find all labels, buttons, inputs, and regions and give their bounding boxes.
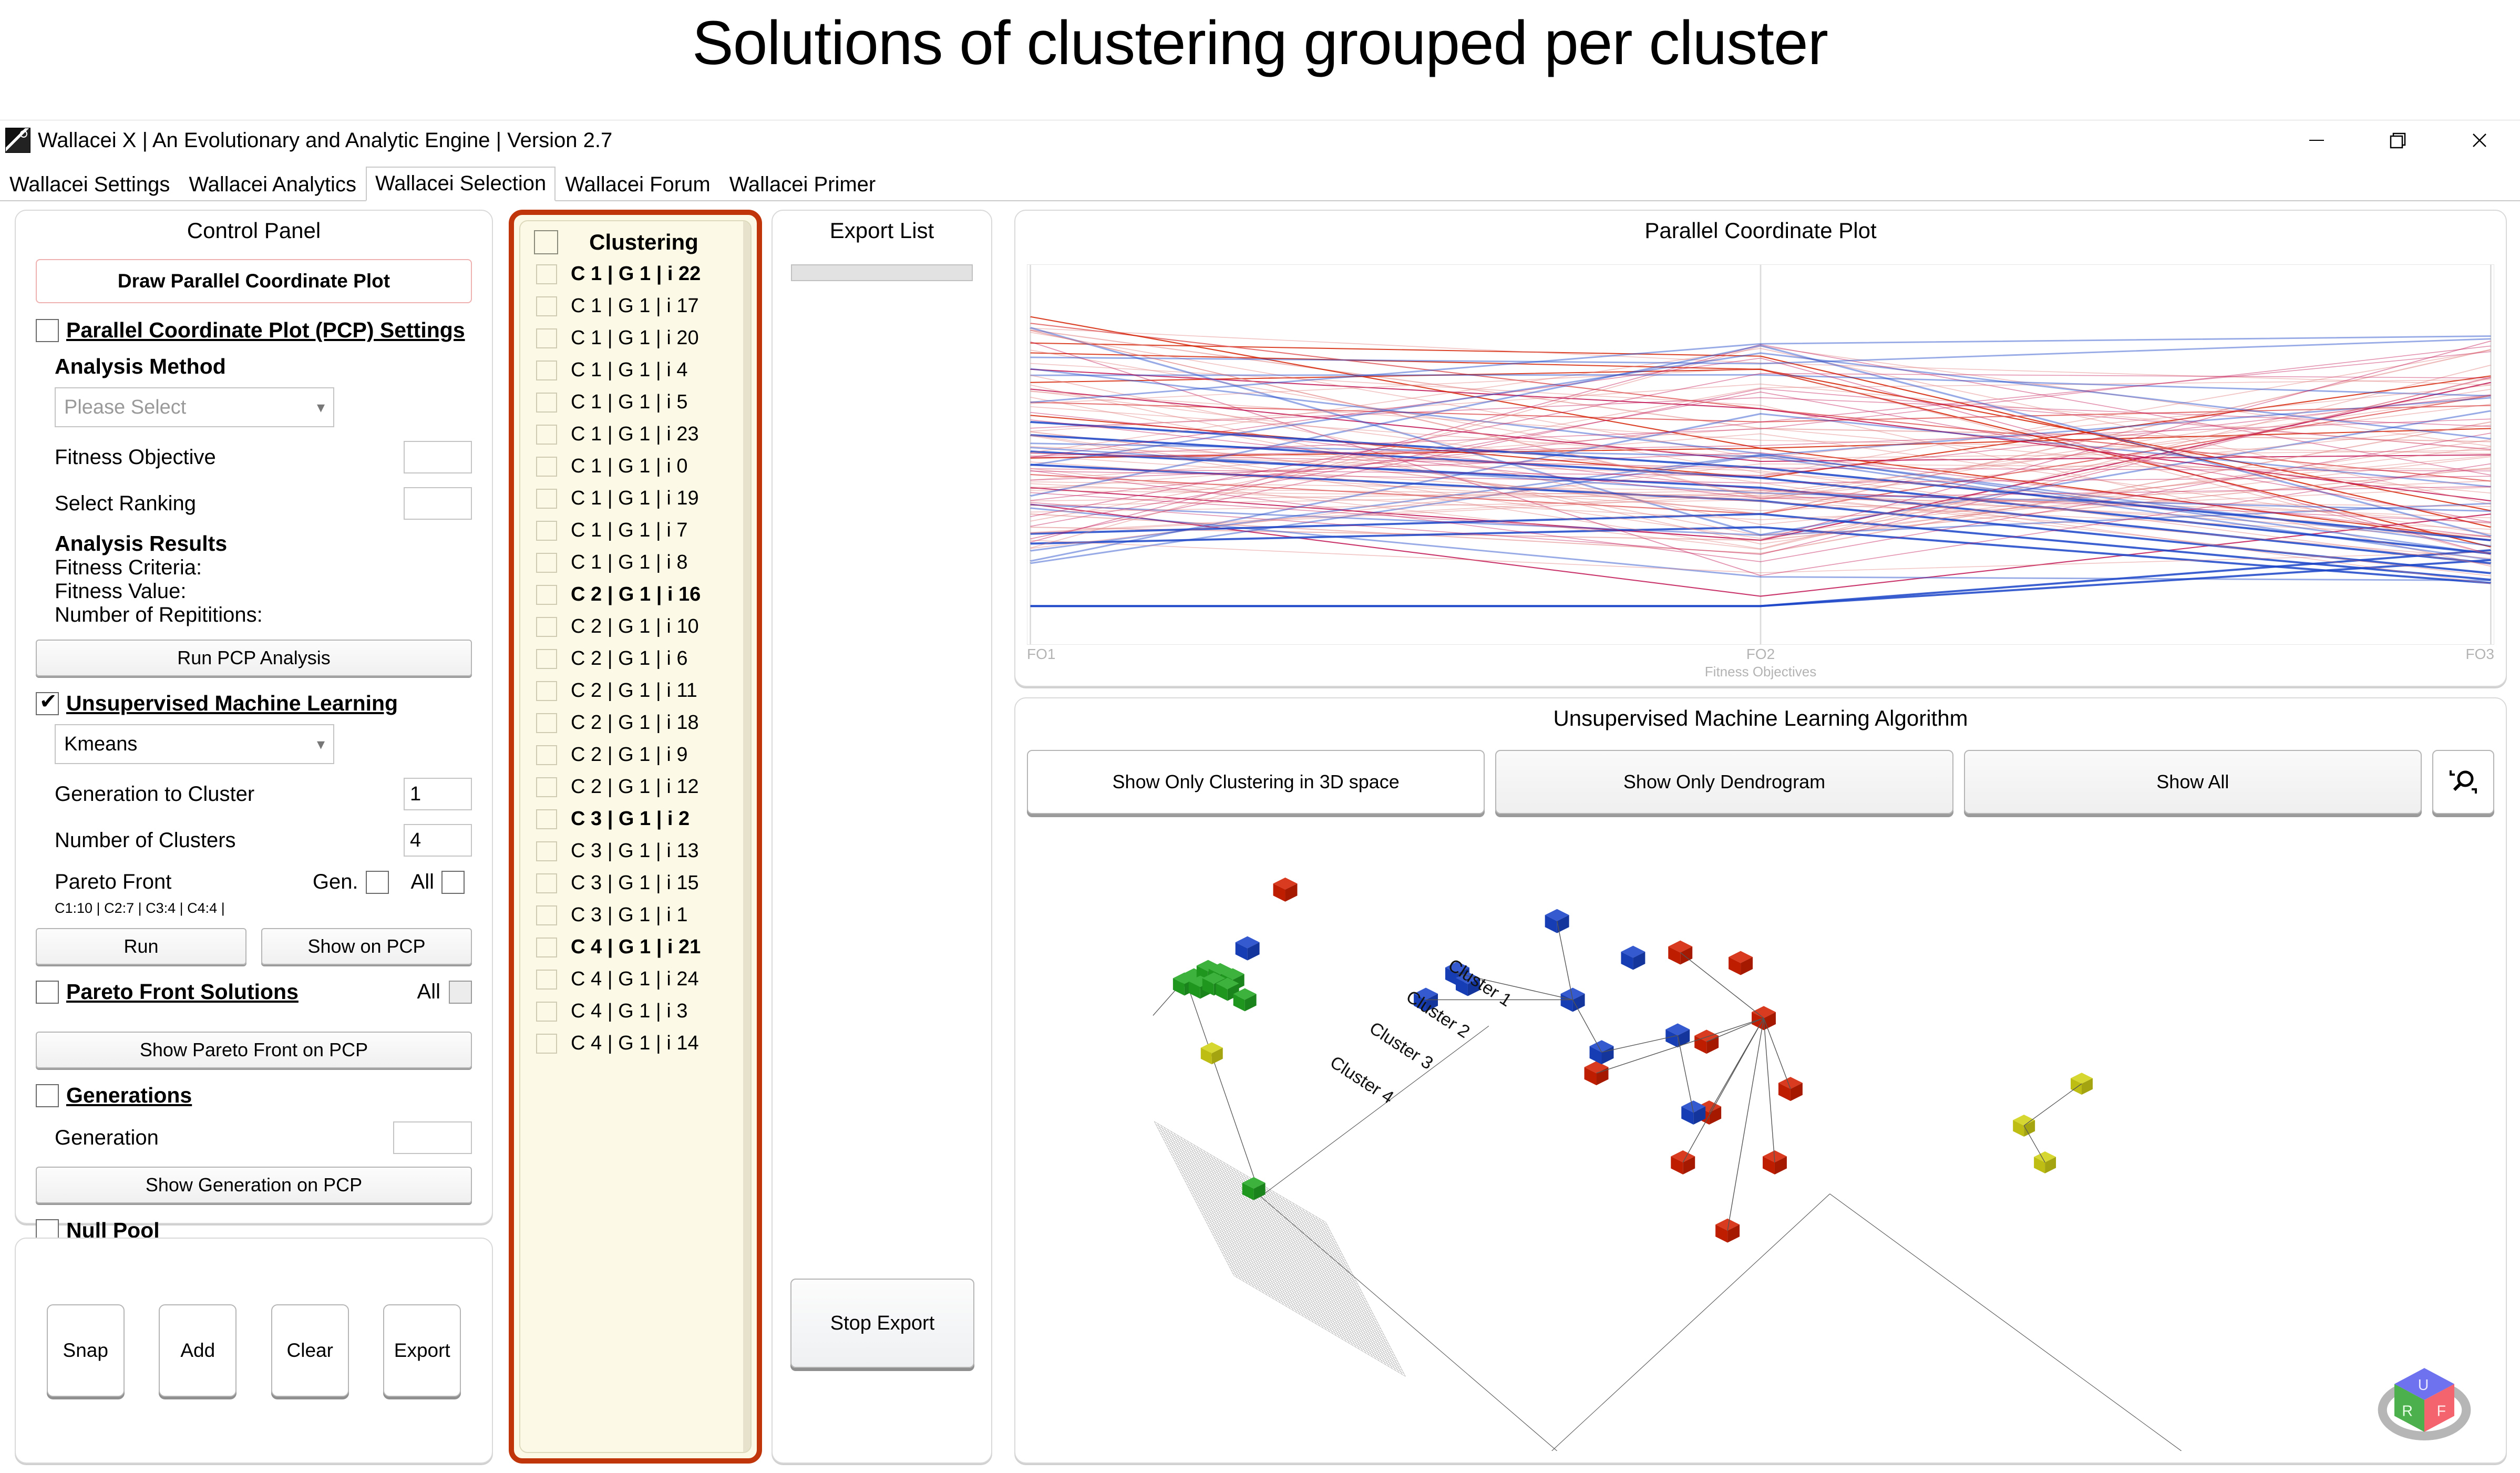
tab-wallacei-analytics[interactable]: Wallacei Analytics	[179, 168, 366, 201]
list-item-label: C 4 | G 1 | i 24	[571, 968, 699, 991]
list-item-checkbox[interactable]	[536, 393, 557, 413]
list-item[interactable]: C 1 | G 1 | i 4	[520, 354, 750, 386]
list-item-label: C 1 | G 1 | i 4	[571, 359, 688, 382]
list-item[interactable]: C 2 | G 1 | i 9	[520, 739, 750, 771]
application-window: Wallacei X | An Evolutionary and Analyti…	[0, 120, 2520, 1472]
pareto-front-solutions-row[interactable]: Pareto Front Solutions All	[36, 980, 472, 1004]
list-item-checkbox[interactable]	[536, 681, 557, 701]
tab-strip: Wallacei Settings Wallacei Analytics Wal…	[0, 160, 2520, 201]
list-item[interactable]: C 2 | G 1 | i 11	[520, 675, 750, 707]
list-item-label: C 3 | G 1 | i 2	[571, 808, 690, 830]
pcp-tick-fo2: FO2	[1746, 646, 1775, 663]
list-item-label: C 1 | G 1 | i 20	[571, 327, 699, 349]
list-item[interactable]: C 3 | G 1 | i 1	[520, 899, 750, 931]
number-of-clusters-input[interactable]: 4	[404, 824, 472, 857]
generation-label: Generation	[55, 1126, 159, 1150]
list-item-checkbox[interactable]	[536, 553, 557, 573]
list-item-checkbox[interactable]	[536, 296, 557, 316]
list-item-checkbox[interactable]	[536, 938, 557, 957]
algorithm-value: Kmeans	[64, 733, 137, 756]
pareto-front-label: Pareto Front	[55, 870, 171, 894]
pareto-solutions-all-label: All	[417, 980, 440, 1004]
add-button[interactable]: Add	[159, 1304, 236, 1397]
list-item-label: C 2 | G 1 | i 16	[571, 583, 701, 606]
select-ranking-label: Select Ranking	[55, 492, 196, 516]
dendrogram-link	[1557, 921, 1573, 1000]
window-controls	[2276, 120, 2520, 160]
dendrogram-link	[1602, 1035, 1678, 1052]
svg-text:U: U	[2418, 1377, 2429, 1394]
snap-button[interactable]: Snap	[47, 1304, 125, 1397]
fitness-objective-label: Fitness Objective	[55, 446, 216, 469]
list-item-checkbox[interactable]	[536, 425, 557, 445]
list-item-label: C 1 | G 1 | i 0	[571, 455, 688, 478]
list-item-checkbox[interactable]	[536, 521, 557, 541]
list-item-checkbox[interactable]	[536, 457, 557, 477]
dendrogram-link	[1830, 1194, 2182, 1451]
fitness-criteria-label: Fitness Criteria:	[55, 556, 472, 580]
list-item[interactable]: C 4 | G 1 | i 21	[520, 931, 750, 963]
generation-row: Generation	[55, 1121, 472, 1154]
clustering-scrollbar[interactable]	[743, 221, 750, 1452]
list-item-label: C 1 | G 1 | i 17	[571, 295, 699, 317]
urf-cube-logo: U R F	[2374, 1350, 2474, 1450]
list-item-label: C 1 | G 1 | i 5	[571, 391, 688, 414]
cluster-counts-text: C1:10 | C2:7 | C3:4 | C4:4 |	[55, 900, 472, 916]
clustering-title: Clustering	[558, 230, 729, 255]
pareto-front-solutions-label: Pareto Front Solutions	[66, 980, 299, 1004]
pareto-front-row: Pareto Front Gen. All	[55, 870, 472, 894]
cluster-point	[1778, 1077, 1803, 1101]
list-item-checkbox[interactable]	[536, 713, 557, 733]
list-item-label: C 4 | G 1 | i 14	[571, 1032, 699, 1055]
list-item-checkbox[interactable]	[536, 360, 557, 380]
list-item[interactable]: C 4 | G 1 | i 24	[520, 963, 750, 995]
list-item-checkbox[interactable]	[536, 264, 557, 284]
list-item-checkbox[interactable]	[536, 649, 557, 669]
zoom-to-fit-icon[interactable]	[2432, 750, 2494, 814]
ml-panel-title: Unsupervised Machine Learning Algorithm	[1015, 698, 2506, 731]
list-item[interactable]: C 1 | G 1 | i 19	[520, 482, 750, 514]
list-item-label: C 2 | G 1 | i 6	[571, 647, 688, 670]
list-item-checkbox[interactable]	[536, 617, 557, 637]
list-item[interactable]: C 4 | G 1 | i 14	[520, 1027, 750, 1059]
clear-button[interactable]: Clear	[271, 1304, 349, 1397]
control-panel: Control Panel Draw Parallel Coordinate P…	[15, 210, 493, 1224]
list-item-label: C 1 | G 1 | i 7	[571, 519, 688, 542]
list-item-checkbox[interactable]	[536, 970, 557, 990]
list-item-label: C 3 | G 1 | i 15	[571, 872, 699, 894]
control-panel-title: Control Panel	[16, 211, 492, 243]
list-item-checkbox[interactable]	[536, 489, 557, 509]
pareto-all-checkbox[interactable]	[441, 871, 465, 894]
list-item-label: C 2 | G 1 | i 11	[571, 679, 697, 702]
pcp-settings-row[interactable]: Parallel Coordinate Plot (PCP) Settings	[36, 318, 472, 343]
export-button[interactable]: Export	[383, 1304, 461, 1397]
list-item-checkbox[interactable]	[536, 328, 557, 348]
cluster-point	[1671, 1150, 1695, 1175]
cluster-point	[1201, 1042, 1223, 1064]
page-title: Solutions of clustering grouped per clus…	[0, 7, 2520, 79]
parallel-coordinate-plot-panel: Parallel Coordinate Plot FO1 FO2 FO3 Fit…	[1014, 210, 2507, 687]
unsupervised-ml-label: Unsupervised Machine Learning	[66, 691, 398, 716]
wallacei-logo-icon	[5, 128, 30, 153]
list-item[interactable]: C 1 | G 1 | i 7	[520, 514, 750, 547]
list-item-checkbox[interactable]	[536, 905, 557, 925]
pcp-tick-fo1: FO1	[1027, 646, 1055, 663]
export-progress-bar	[791, 264, 973, 281]
list-item[interactable]: C 2 | G 1 | i 12	[520, 771, 750, 803]
dendrogram-link	[1764, 1018, 1775, 1162]
list-item[interactable]: C 2 | G 1 | i 10	[520, 611, 750, 643]
cluster-point	[1236, 936, 1260, 961]
list-item-checkbox[interactable]	[536, 809, 557, 829]
generation-to-cluster-label: Generation to Cluster	[55, 782, 254, 806]
dendrogram-link	[2024, 1084, 2082, 1126]
list-item[interactable]: C 3 | G 1 | i 15	[520, 867, 750, 899]
pcp-settings-checkbox[interactable]	[36, 319, 59, 342]
list-item-checkbox[interactable]	[536, 1034, 557, 1054]
generation-input[interactable]	[393, 1121, 472, 1154]
list-item[interactable]: C 1 | G 1 | i 20	[520, 322, 750, 354]
list-item[interactable]: C 4 | G 1 | i 3	[520, 995, 750, 1027]
select-ranking-row: Select Ranking	[55, 487, 472, 520]
clustering-panel: Clustering C 1 | G 1 | i 22C 1 | G 1 | i…	[509, 210, 762, 1464]
list-item-label: C 4 | G 1 | i 3	[571, 1000, 688, 1023]
analysis-method-value: Please Select	[64, 396, 186, 419]
export-panel: Export List Stop Export	[772, 210, 992, 1464]
tab-wallacei-forum[interactable]: Wallacei Forum	[556, 168, 719, 201]
list-item[interactable]: C 1 | G 1 | i 23	[520, 418, 750, 450]
list-item-checkbox[interactable]	[536, 777, 557, 797]
pcp-axis-labels: FO1 FO2 FO3 Fitness Objectives	[1027, 646, 2494, 681]
generation-to-cluster-input[interactable]: 1	[404, 778, 472, 810]
number-of-clusters-label: Number of Clusters	[55, 829, 236, 852]
list-item[interactable]: C 1 | G 1 | i 0	[520, 450, 750, 482]
list-item-label: C 4 | G 1 | i 21	[571, 936, 701, 959]
svg-text:R: R	[2402, 1403, 2413, 1419]
ground-mesh	[1154, 1121, 1405, 1376]
list-item[interactable]: C 1 | G 1 | i 17	[520, 290, 750, 322]
minimize-icon[interactable]	[2276, 120, 2357, 160]
list-item-label: C 2 | G 1 | i 12	[571, 776, 699, 798]
analysis-method-label: Analysis Method	[55, 354, 472, 379]
chevron-down-icon: ▾	[317, 398, 325, 417]
clustering-3d-viewport[interactable]: Cluster 1Cluster 2Cluster 3Cluster 4	[1027, 827, 2494, 1451]
dendrogram-link	[1678, 1035, 1693, 1113]
list-item-label: C 3 | G 1 | i 13	[571, 840, 699, 862]
list-item-label: C 1 | G 1 | i 23	[571, 423, 699, 446]
svg-text:F: F	[2437, 1403, 2446, 1419]
run-button[interactable]: Run	[36, 928, 246, 965]
draw-parallel-coordinate-plot-button[interactable]: Draw Parallel Coordinate Plot	[36, 259, 472, 303]
list-item-checkbox[interactable]	[536, 841, 557, 861]
analysis-method-select[interactable]: Please Select ▾	[55, 387, 334, 427]
show-only-dendrogram-button[interactable]: Show Only Dendrogram	[1495, 750, 1953, 814]
dendrogram-link	[1573, 1000, 1602, 1052]
algorithm-select[interactable]: Kmeans ▾	[55, 724, 334, 764]
tab-wallacei-settings[interactable]: Wallacei Settings	[0, 168, 179, 201]
list-item[interactable]: C 2 | G 1 | i 6	[520, 643, 750, 675]
fitness-value-label: Fitness Value:	[55, 580, 472, 603]
pcp-title: Parallel Coordinate Plot	[1015, 211, 2506, 243]
generations-checkbox[interactable]	[36, 1084, 59, 1107]
list-item-checkbox[interactable]	[536, 745, 557, 765]
fitness-objective-input[interactable]	[404, 441, 472, 473]
pareto-front-solutions-checkbox[interactable]	[36, 981, 59, 1004]
title-bar: Wallacei X | An Evolutionary and Analyti…	[0, 120, 2520, 160]
analysis-results-label: Analysis Results	[55, 531, 472, 556]
dendrogram-link	[1261, 1197, 1557, 1451]
pareto-gen-checkbox[interactable]	[366, 871, 389, 894]
tab-wallacei-selection[interactable]: Wallacei Selection	[366, 167, 556, 201]
clustering-select-all-checkbox[interactable]	[534, 230, 558, 254]
tool-panel: Snap Add Clear Export	[15, 1238, 493, 1464]
list-item[interactable]: C 1 | G 1 | i 5	[520, 386, 750, 418]
show-generation-on-pcp-button[interactable]: Show Generation on PCP	[36, 1167, 472, 1203]
unsupervised-ml-panel: Unsupervised Machine Learning Algorithm …	[1014, 697, 2507, 1464]
tab-wallacei-primer[interactable]: Wallacei Primer	[720, 168, 886, 201]
unsupervised-ml-checkbox[interactable]	[36, 692, 59, 715]
pcp-tick-fo3: FO3	[2466, 646, 2494, 663]
pcp-x-axis-label: Fitness Objectives	[1027, 664, 2494, 680]
list-item[interactable]: C 3 | G 1 | i 2	[520, 803, 750, 835]
list-item-label: C 2 | G 1 | i 18	[571, 712, 699, 734]
list-item-label: C 2 | G 1 | i 9	[571, 744, 688, 766]
list-item[interactable]: C 3 | G 1 | i 13	[520, 835, 750, 867]
list-item[interactable]: C 1 | G 1 | i 22	[520, 258, 750, 290]
chevron-down-icon: ▾	[317, 735, 325, 754]
number-of-repetitions-label: Number of Repititions:	[55, 603, 472, 627]
cluster-point	[1621, 946, 1645, 970]
pcp-chart[interactable]	[1027, 264, 2494, 645]
dendrogram-link	[1552, 1194, 1830, 1451]
cluster-label: Cluster 3	[1366, 1018, 1437, 1074]
restore-icon[interactable]	[2357, 120, 2439, 160]
pareto-solutions-all-checkbox[interactable]	[449, 981, 472, 1004]
dendrogram-link	[1706, 1018, 1764, 1042]
generation-to-cluster-row: Generation to Cluster 1	[55, 778, 472, 810]
cluster-point	[1715, 1219, 1740, 1243]
export-list-title: Export List	[773, 211, 991, 243]
clustering-header: Clustering	[520, 221, 750, 258]
list-item-checkbox[interactable]	[536, 1002, 557, 1022]
dendrogram-link	[1261, 1026, 1489, 1196]
cluster-point	[1545, 909, 1569, 933]
close-icon[interactable]	[2439, 120, 2520, 160]
list-item-label: C 1 | G 1 | i 8	[571, 551, 688, 574]
cluster-label: Cluster 4	[1326, 1052, 1397, 1108]
pcp-settings-label: Parallel Coordinate Plot (PCP) Settings	[66, 318, 465, 343]
list-item-label: C 3 | G 1 | i 1	[571, 904, 688, 926]
number-of-clusters-row: Number of Clusters 4	[55, 824, 472, 857]
dendrogram-link	[1764, 1018, 1791, 1089]
list-item-checkbox[interactable]	[536, 585, 557, 605]
list-item[interactable]: C 2 | G 1 | i 16	[520, 579, 750, 611]
app-title: Wallacei X | An Evolutionary and Analyti…	[38, 129, 612, 152]
select-ranking-input[interactable]	[404, 487, 472, 520]
generations-row[interactable]: Generations	[36, 1083, 472, 1108]
generations-label: Generations	[66, 1083, 192, 1108]
pareto-all-label: All	[411, 870, 434, 894]
list-item[interactable]: C 1 | G 1 | i 8	[520, 547, 750, 579]
show-all-button[interactable]: Show All	[1964, 750, 2422, 814]
list-item[interactable]: C 2 | G 1 | i 18	[520, 707, 750, 739]
cluster-point	[1242, 1177, 1266, 1200]
unsupervised-ml-row[interactable]: Unsupervised Machine Learning	[36, 691, 472, 716]
cluster-point	[1585, 1061, 1609, 1085]
show-pareto-front-on-pcp-button[interactable]: Show Pareto Front on PCP	[36, 1032, 472, 1068]
run-pcp-analysis-button[interactable]: Run PCP Analysis	[36, 640, 472, 676]
clustering-list[interactable]: C 1 | G 1 | i 22C 1 | G 1 | i 17C 1 | G …	[520, 258, 750, 1059]
pareto-gen-label: Gen.	[313, 870, 358, 894]
list-item-label: C 1 | G 1 | i 22	[571, 263, 701, 285]
list-item-label: C 1 | G 1 | i 19	[571, 487, 699, 510]
cluster-point	[1590, 1040, 1614, 1064]
stop-export-button[interactable]: Stop Export	[790, 1279, 974, 1368]
show-on-pcp-button[interactable]: Show on PCP	[261, 928, 472, 965]
dendrogram-link	[1187, 984, 1261, 1196]
cluster-point	[1273, 878, 1298, 902]
list-item-checkbox[interactable]	[536, 873, 557, 893]
list-item-label: C 2 | G 1 | i 10	[571, 615, 699, 638]
cluster-point	[1729, 951, 1753, 975]
cluster-label: Cluster 2	[1403, 986, 1474, 1042]
fitness-objective-row: Fitness Objective	[55, 441, 472, 473]
show-only-clustering-3d-button[interactable]: Show Only Clustering in 3D space	[1027, 750, 1485, 814]
